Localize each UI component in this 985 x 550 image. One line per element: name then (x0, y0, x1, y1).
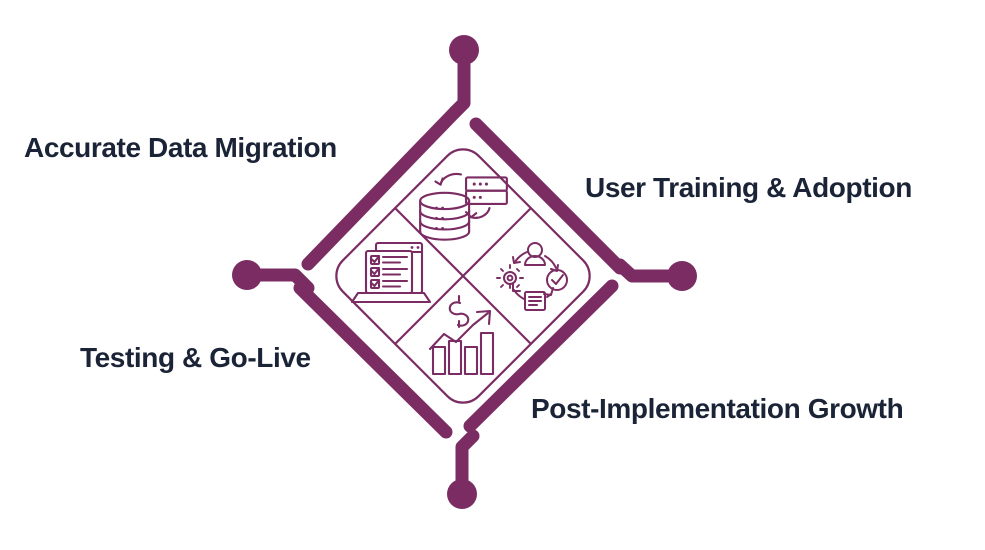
diamond-process-diagram (0, 0, 985, 550)
label-post-implementation-growth: Post-Implementation Growth (531, 394, 903, 425)
node-left-circle[interactable] (232, 260, 262, 290)
node-right-circle[interactable] (667, 261, 697, 291)
label-testing-go-live: Testing & Go-Live (80, 343, 311, 374)
label-accurate-data-migration: Accurate Data Migration (24, 133, 337, 164)
diagram-canvas: Accurate Data Migration User Training & … (0, 0, 985, 550)
node-top-circle[interactable] (449, 35, 479, 65)
label-user-training-adoption: User Training & Adoption (585, 173, 912, 204)
node-bottom-circle[interactable] (447, 479, 477, 509)
